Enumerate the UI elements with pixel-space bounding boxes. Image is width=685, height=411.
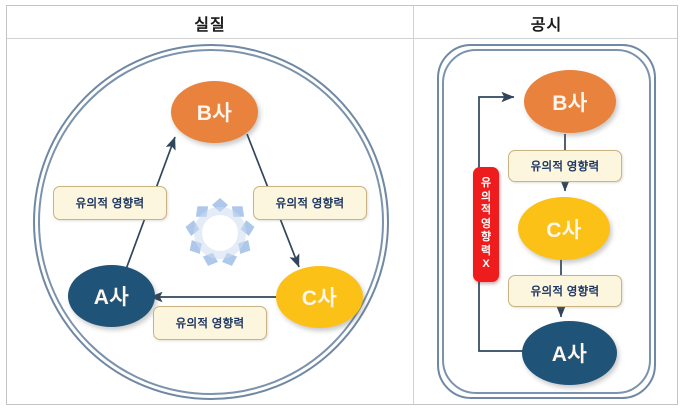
node-c-label: C사: [546, 214, 582, 244]
edge-label-a-to-b: 유의적 영향력: [53, 186, 167, 220]
node-a-label: A사: [552, 338, 588, 368]
cycle-arrows-icon: [183, 196, 257, 270]
banner-char-1: 유: [481, 177, 491, 191]
banner-char-7: X: [482, 258, 489, 272]
node-c[interactable]: C사: [518, 197, 610, 260]
node-a-label: A사: [94, 281, 130, 311]
node-c[interactable]: C사: [276, 266, 363, 328]
table-header-row: 실질 공시: [7, 6, 677, 39]
banner-char-6: 력: [481, 245, 491, 259]
banner-char-4: 영: [481, 218, 491, 232]
edge-label-b-to-c: 유의적 영향력: [508, 150, 622, 182]
edge-label-b-to-c: 유의적 영향력: [253, 186, 367, 220]
edge-label-b-to-c-text: 유의적 영향력: [531, 158, 600, 174]
node-a[interactable]: A사: [68, 265, 155, 327]
node-b-label: B사: [552, 87, 588, 117]
node-b[interactable]: B사: [524, 70, 616, 133]
header-cell-substance: 실질: [7, 6, 413, 39]
edge-label-c-to-a-text: 유의적 영향력: [531, 283, 600, 299]
edge-label-c-to-a: 유의적 영향력: [153, 306, 267, 340]
banner-char-3: 적: [481, 204, 491, 218]
edge-label-a-to-b-text: 유의적 영향력: [76, 195, 145, 211]
header-cell-disclosure: 공시: [414, 6, 679, 39]
node-c-label: C사: [302, 282, 338, 312]
edge-label-c-to-a-text: 유의적 영향력: [176, 315, 245, 331]
node-a[interactable]: A사: [522, 321, 617, 385]
banner-char-5: 향: [481, 231, 491, 245]
diagram-root: 실질 공시: [0, 0, 685, 411]
node-b[interactable]: B사: [171, 81, 258, 143]
edge-label-c-to-a: 유의적 영향력: [508, 275, 622, 307]
node-b-label: B사: [197, 97, 233, 127]
banner-char-2: 의: [481, 191, 491, 205]
substance-panel: B사 A사 C사 유의적 영향력 유의적 영향력 유의적 영향력: [7, 39, 413, 405]
no-significant-influence-banner: 유 의 적 영 향 력 X: [473, 167, 499, 282]
disclosure-panel: B사 C사 A사 유의적 영향력 유의적 영향력 유 의 적 영 향: [414, 39, 679, 405]
edge-label-b-to-c-text: 유의적 영향력: [276, 195, 345, 211]
comparison-table: 실질 공시: [6, 5, 678, 405]
